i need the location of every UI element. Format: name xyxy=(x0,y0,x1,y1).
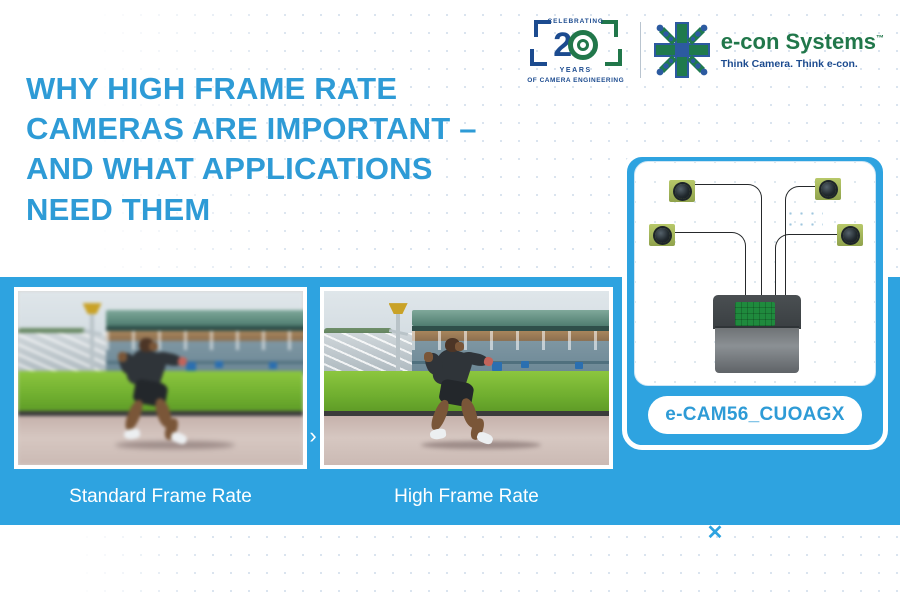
sprinter-back-shoe xyxy=(170,430,188,445)
header-logo-bar: CELEBRATING 2 YEARS OF CAMERA ENGINEERIN… xyxy=(522,14,884,86)
camera-module-4 xyxy=(837,224,863,246)
brand-tagline: Think Camera. Think e-con. xyxy=(721,58,884,70)
anniversary-digit-zero-icon xyxy=(568,30,598,60)
floodlight-stem xyxy=(90,314,95,372)
compute-unit xyxy=(713,295,801,373)
chevron-right-icon: › xyxy=(305,422,321,450)
brand-name: e-con Systems™ xyxy=(721,31,884,53)
camera-cable-2 xyxy=(675,232,746,303)
floodlight-bowl xyxy=(389,303,408,314)
product-image-frame xyxy=(634,161,876,386)
close-x-icon[interactable]: ✕ xyxy=(704,522,726,544)
standard-frame-rate-image[interactable] xyxy=(14,287,307,469)
field-marker-b xyxy=(521,361,530,368)
grandstand-roof xyxy=(106,310,307,326)
grandstand-roof xyxy=(412,310,613,326)
logo-divider xyxy=(640,22,641,78)
sprinter-front-hand xyxy=(424,352,433,362)
sprinter-face xyxy=(455,342,464,351)
compute-unit-pcb xyxy=(735,302,775,326)
sprinter-face xyxy=(149,342,158,351)
floodlight-bowl xyxy=(83,303,102,314)
sprinter-back-shoe xyxy=(476,430,494,445)
camera-module-2 xyxy=(649,224,675,246)
floodlight-tower xyxy=(387,303,410,373)
product-name-pill[interactable]: e-CAM56_CUOAGX xyxy=(648,396,862,434)
compute-unit-body xyxy=(715,328,799,373)
econ-systems-logo[interactable]: e-con Systems™ Think Camera. Think e-con… xyxy=(651,19,884,81)
sprinter xyxy=(112,338,209,446)
camera-module-1 xyxy=(669,180,695,202)
floodlight-stem xyxy=(396,314,401,372)
stadium-scene-blurred xyxy=(18,291,303,465)
standard-frame-rate-caption: Standard Frame Rate xyxy=(14,480,307,514)
page-title-line-3: AND WHAT APPLICATIONS xyxy=(26,151,433,186)
sprinter xyxy=(418,338,515,446)
camera-cable-4 xyxy=(775,234,842,301)
page-title-line-2: CAMERAS ARE IMPORTANT – xyxy=(26,111,477,146)
field-marker-c xyxy=(575,362,584,369)
camera-module-3 xyxy=(815,178,841,200)
page-title-line-1: WHY HIGH FRAME RATE xyxy=(26,71,397,106)
anniversary-celebrating-text: CELEBRATING xyxy=(522,18,630,25)
brand-name-text: e-con Systems xyxy=(721,29,876,54)
trademark-symbol: ™ xyxy=(876,33,884,42)
econ-compass-icon xyxy=(651,19,713,81)
page-title: WHY HIGH FRAME RATE CAMERAS ARE IMPORTAN… xyxy=(26,69,566,230)
floodlight-tower xyxy=(81,303,104,373)
sprinter-front-hand xyxy=(118,352,127,362)
page-title-line-4: NEED THEM xyxy=(26,192,210,227)
high-frame-rate-image[interactable] xyxy=(320,287,613,469)
background-fade-bottom-left xyxy=(0,527,210,600)
stadium-scene-sharp xyxy=(324,291,609,465)
high-frame-rate-caption: High Frame Rate xyxy=(320,480,613,514)
anniversary-number: 2 xyxy=(522,26,630,64)
field-marker-b xyxy=(215,361,224,368)
econ-wordmark: e-con Systems™ Think Camera. Think e-con… xyxy=(721,31,884,70)
field-marker-c xyxy=(269,362,278,369)
